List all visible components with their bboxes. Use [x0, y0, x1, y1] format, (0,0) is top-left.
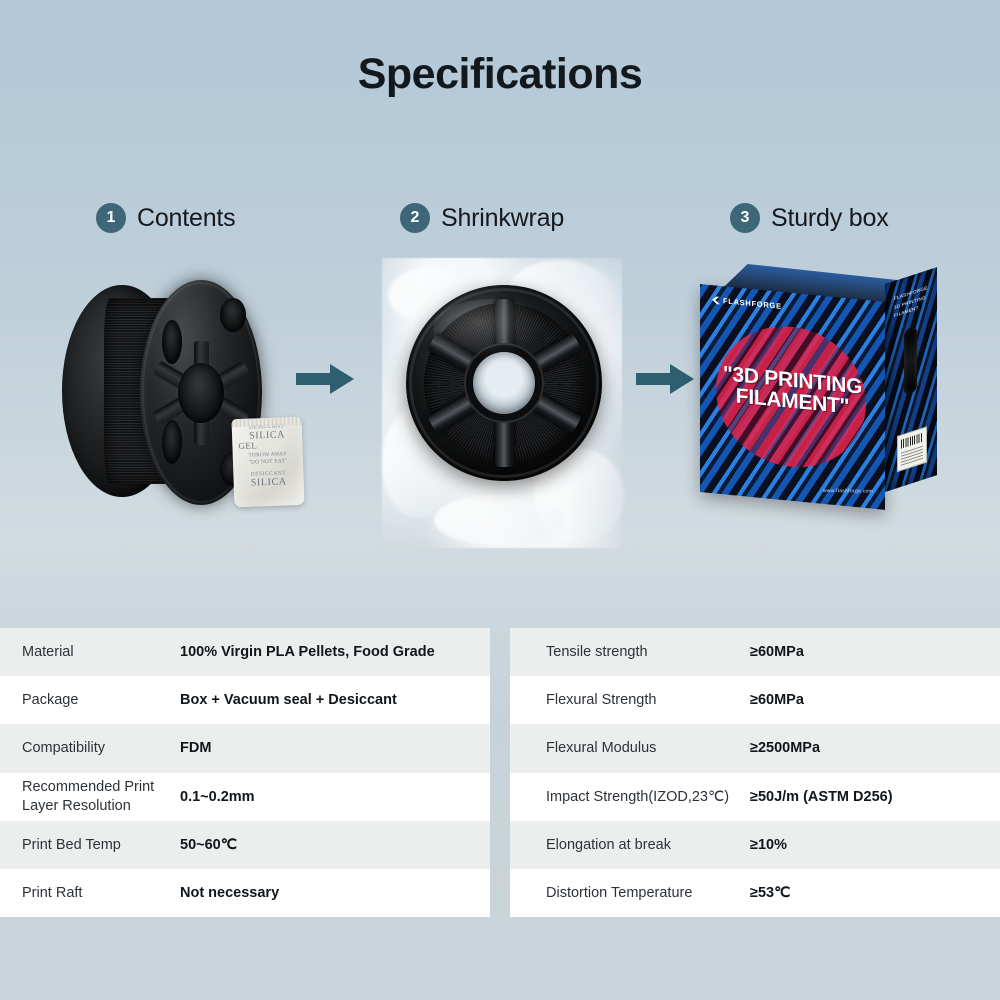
page-title: Specifications	[0, 50, 1000, 99]
spool-cutout	[162, 420, 182, 464]
specifications-page: Specifications 1 Contents 2 Shrinkwrap 3…	[0, 0, 1000, 1000]
spec-table-left: Material 100% Virgin PLA Pellets, Food G…	[0, 628, 490, 917]
arrow-right-icon	[636, 362, 696, 396]
table-row: Elongation at break ≥10%	[510, 821, 1000, 869]
spool-hub	[178, 363, 224, 423]
table-row: Tensile strength ≥60MPa	[510, 628, 1000, 676]
steps-row: 1 Contents 2 Shrinkwrap 3 Sturdy box	[0, 203, 1000, 239]
spec-key: Print Bed Temp	[0, 836, 180, 854]
box-handle-slot	[904, 326, 917, 396]
step-item-1: 1 Contents	[96, 203, 235, 233]
arrow-right-icon	[296, 362, 356, 396]
flashforge-arrow-icon	[712, 296, 720, 305]
spec-key: Compatibility	[0, 739, 180, 757]
step-label-contents: Contents	[137, 204, 235, 233]
flashforge-wordmark: FLASHFORGE	[723, 296, 782, 311]
table-row: Print Raft Not necessary	[0, 869, 490, 917]
spool-gloss-highlight	[433, 299, 547, 358]
spec-value: ≥60MPa	[750, 643, 1000, 661]
filament-spool-angled-image	[62, 280, 262, 505]
spec-key: Impact Strength(IZOD,23℃)	[510, 788, 750, 806]
table-row: Print Bed Temp 50~60℃	[0, 821, 490, 869]
desiccant-line-7: SILICA	[234, 477, 304, 490]
spool-hub	[473, 352, 535, 414]
table-row: Compatibility FDM	[0, 724, 490, 772]
specification-tables: Material 100% Virgin PLA Pellets, Food G…	[0, 628, 1000, 917]
spec-value: ≥10%	[750, 836, 1000, 854]
step-label-sturdy-box: Sturdy box	[771, 204, 889, 233]
spec-key: Print Raft	[0, 884, 180, 902]
spec-value: ≥53℃	[750, 884, 1000, 902]
spec-key: Distortion Temperature	[510, 884, 750, 902]
spool-cutout	[162, 320, 182, 364]
spec-value: 100% Virgin PLA Pellets, Food Grade	[180, 643, 490, 661]
retail-box-image: FLASHFORGE 3D PRINTING FILAMENT FLASHFOR…	[700, 272, 950, 510]
spec-table-right: Tensile strength ≥60MPa Flexural Strengt…	[510, 628, 1000, 917]
step-badge-2: 2	[400, 203, 430, 233]
box-side-panel: FLASHFORGE 3D PRINTING FILAMENT	[885, 267, 937, 492]
box-website-url: www.flashforge.com	[823, 488, 873, 494]
spec-value: ≥2500MPa	[750, 739, 1000, 757]
spec-value: ≥50J/m (ASTM D256)	[750, 788, 1000, 806]
spec-key: Flexural Modulus	[510, 739, 750, 757]
table-row: Material 100% Virgin PLA Pellets, Food G…	[0, 628, 490, 676]
shrinkwrapped-spool-image	[382, 258, 622, 548]
spec-key: Package	[0, 691, 180, 709]
step-label-shrinkwrap: Shrinkwrap	[441, 204, 564, 233]
table-row: Flexural Modulus ≥2500MPa	[510, 724, 1000, 772]
table-row: Flexural Strength ≥60MPa	[510, 676, 1000, 724]
flashforge-logo: FLASHFORGE	[712, 295, 782, 311]
box-barcode-label	[897, 426, 927, 472]
spec-value: Not necessary	[180, 884, 490, 902]
spec-value: ≥60MPa	[750, 691, 1000, 709]
spec-value: Box + Vacuum seal + Desiccant	[180, 691, 490, 709]
desiccant-packet-image: DESICCANT SILICA GEL THROW AWAY "DO NOT …	[231, 417, 304, 507]
shrinkwrap-fold	[434, 494, 564, 546]
box-side-text: FLASHFORGE 3D PRINTING FILAMENT	[894, 284, 928, 321]
step-badge-3: 3	[730, 203, 760, 233]
spec-key: Material	[0, 643, 180, 661]
spec-key: Elongation at break	[510, 836, 750, 854]
step-badge-1: 1	[96, 203, 126, 233]
desiccant-line-3: GEL	[232, 440, 302, 452]
box-front-panel: FLASHFORGE "3D PRINTING FILAMENT" www.fl…	[700, 284, 885, 510]
spool-front-face	[406, 285, 602, 481]
table-row: Distortion Temperature ≥53℃	[510, 869, 1000, 917]
spec-key: Flexural Strength	[510, 691, 750, 709]
table-row: Impact Strength(IZOD,23℃) ≥50J/m (ASTM D…	[510, 773, 1000, 821]
spec-key: Tensile strength	[510, 643, 750, 661]
spool-cutout	[220, 298, 246, 332]
spec-value: 50~60℃	[180, 836, 490, 854]
spec-key: Recommended Print Layer Resolution	[0, 778, 180, 814]
step-item-3: 3 Sturdy box	[730, 203, 889, 233]
spec-value: 0.1~0.2mm	[180, 788, 490, 806]
product-scene: DESICCANT SILICA GEL THROW AWAY "DO NOT …	[0, 250, 1000, 550]
desiccant-line-5: "DO NOT EAT"	[233, 459, 303, 467]
spec-value: FDM	[180, 739, 490, 757]
table-row: Package Box + Vacuum seal + Desiccant	[0, 676, 490, 724]
step-item-2: 2 Shrinkwrap	[400, 203, 564, 233]
table-row: Recommended Print Layer Resolution 0.1~0…	[0, 773, 490, 821]
